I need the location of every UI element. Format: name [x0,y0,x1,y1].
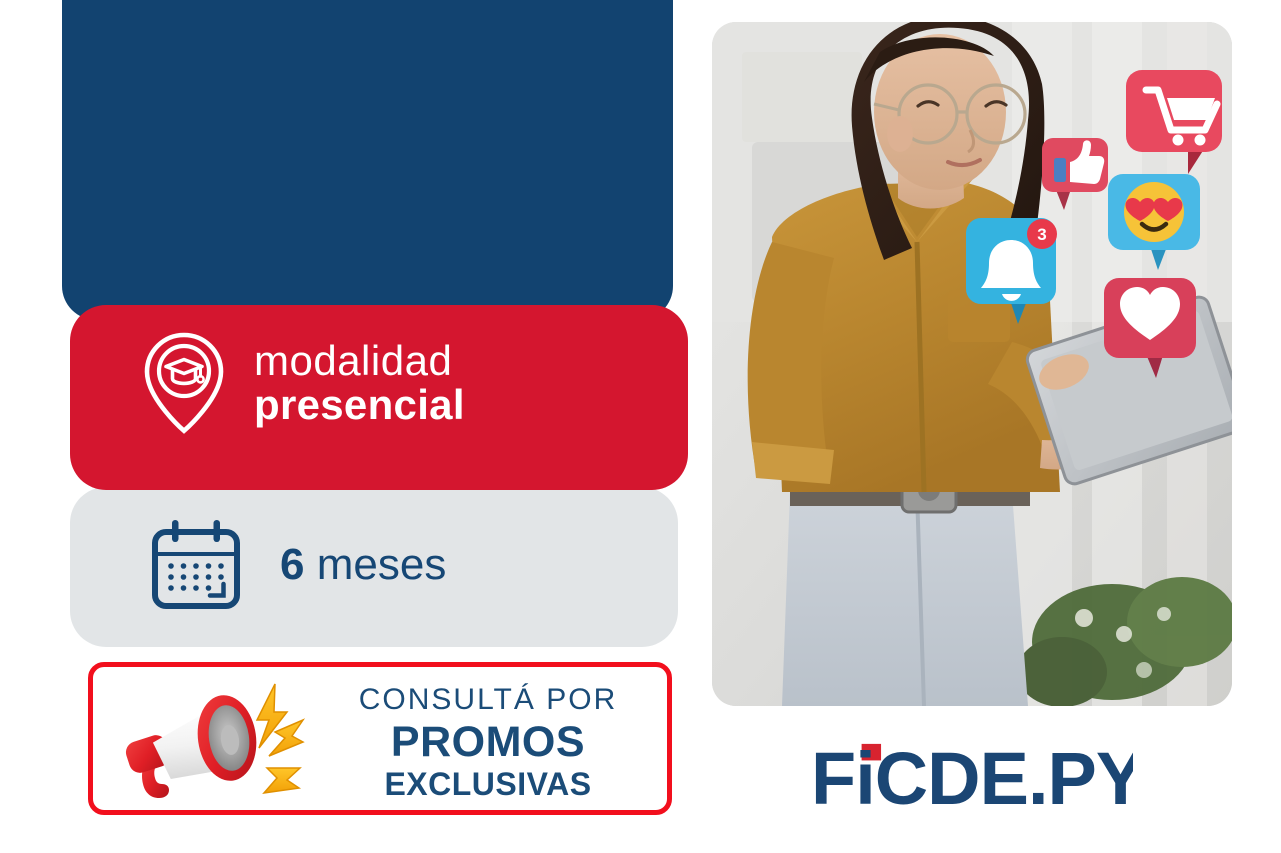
promo-line-2: PROMOS [318,718,658,766]
promo-callout-box[interactable]: CONSULTÁ POR PROMOS EXCLUSIVAS [88,662,672,815]
promo-text: CONSULTÁ POR PROMOS EXCLUSIVAS [318,682,658,804]
modality-label: modalidad [254,339,465,383]
modality-text: modalidad presencial [254,339,465,426]
modality-panel: modalidad presencial [70,305,688,490]
svg-text:3: 3 [1037,225,1046,244]
headline-panel [62,0,673,320]
duration-panel: 6 meses [70,487,678,647]
duration-content: 6 meses [146,515,446,615]
duration-number: 6 [280,540,304,589]
location-pin-graduation-cap-icon [142,331,226,435]
duration-unit: meses [317,540,447,589]
promo-line-3: EXCLUSIVAS [318,766,658,804]
hero-photo: 3 [712,22,1232,706]
promo-line-1: CONSULTÁ POR [318,682,658,718]
modality-value: presencial [254,383,465,427]
calendar-icon [146,515,246,615]
duration-text: 6 meses [280,543,446,587]
modality-content: modalidad presencial [142,331,465,435]
svg-text:FiCDE.PY: FiCDE.PY [811,740,1132,812]
megaphone-icon [107,676,312,811]
ad-canvas: CAPACITATE EN MARKETING EN REDES SOCIALE… [0,0,1281,853]
brand-logo: FiCDE.PY [712,726,1232,826]
